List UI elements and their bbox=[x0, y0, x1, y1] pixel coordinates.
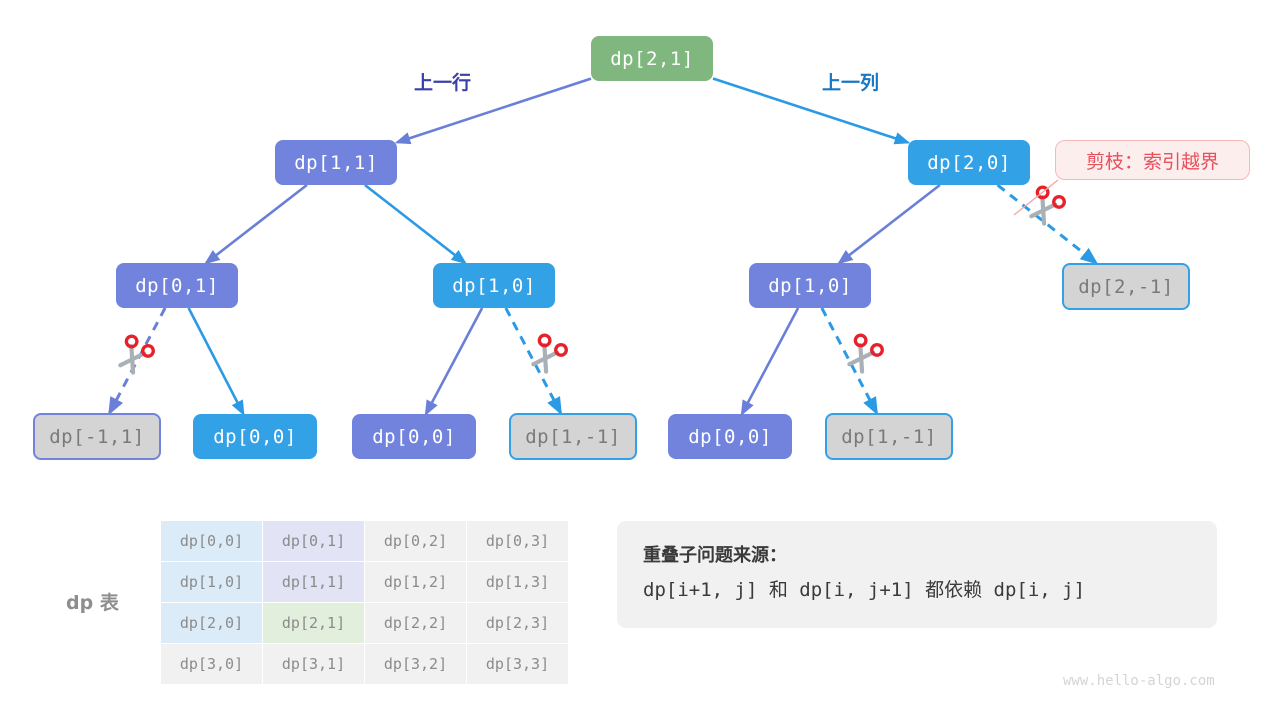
tree-node-n1m1b: dp[1,-1] bbox=[825, 413, 953, 460]
tree-node-label: dp[0,0] bbox=[213, 426, 297, 448]
pruning-callout: 剪枝：索引越界 bbox=[1055, 140, 1250, 180]
note-heading: 重叠子问题来源： bbox=[643, 541, 1191, 567]
tree-node-label: dp[-1,1] bbox=[49, 426, 145, 448]
tree-node-n1m1a: dp[1,-1] bbox=[509, 413, 637, 460]
dp-cell-2-3: dp[2,3] bbox=[467, 603, 569, 644]
dp-cell-1-0: dp[1,0] bbox=[161, 562, 263, 603]
tree-node-nm11: dp[-1,1] bbox=[33, 413, 161, 460]
tree-node-n00a: dp[0,0] bbox=[193, 414, 317, 459]
dp-cell-3-0: dp[3,0] bbox=[161, 644, 263, 685]
tree-node-n10a: dp[1,0] bbox=[433, 263, 555, 308]
edge-n20-to-n2m1 bbox=[998, 185, 1097, 263]
edge-n20-to-n10b bbox=[839, 185, 940, 263]
tree-node-n20: dp[2,0] bbox=[908, 140, 1030, 185]
dp-cell-3-1: dp[3,1] bbox=[263, 644, 365, 685]
pruning-callout-text: 剪枝：索引越界 bbox=[1086, 147, 1219, 174]
dp-table-row: dp[3,0]dp[3,1]dp[3,2]dp[3,3] bbox=[161, 644, 569, 685]
tree-node-label: dp[2,1] bbox=[610, 48, 694, 70]
dp-cell-3-2: dp[3,2] bbox=[365, 644, 467, 685]
scissors-icon bbox=[527, 333, 568, 375]
tree-node-label: dp[1,0] bbox=[768, 275, 852, 297]
dp-cell-2-0: dp[2,0] bbox=[161, 603, 263, 644]
tree-node-label: dp[2,0] bbox=[927, 152, 1011, 174]
dp-cell-1-2: dp[1,2] bbox=[365, 562, 467, 603]
tree-node-root: dp[2,1] bbox=[591, 36, 713, 81]
dp-cell-0-0: dp[0,0] bbox=[161, 521, 263, 562]
tree-node-n01: dp[0,1] bbox=[116, 263, 238, 308]
edge-n01-to-nm11 bbox=[110, 308, 166, 413]
dp-cell-2-1: dp[2,1] bbox=[263, 603, 365, 644]
edge-n01-to-n00a bbox=[189, 308, 244, 414]
tree-node-n00b: dp[0,0] bbox=[352, 414, 476, 459]
edge-n11-to-n01 bbox=[206, 185, 307, 263]
scissors-icon bbox=[114, 334, 155, 376]
diagram-canvas: dp[2,1]dp[1,1]dp[2,0]dp[0,1]dp[1,0]dp[1,… bbox=[0, 0, 1280, 720]
tree-node-label: dp[0,1] bbox=[135, 275, 219, 297]
tree-node-label: dp[0,0] bbox=[688, 426, 772, 448]
dp-cell-1-1: dp[1,1] bbox=[263, 562, 365, 603]
dp-cell-0-1: dp[0,1] bbox=[263, 521, 365, 562]
dp-cell-3-3: dp[3,3] bbox=[467, 644, 569, 685]
scissors-icon bbox=[1025, 185, 1066, 227]
site-watermark: www.hello-algo.com bbox=[1063, 673, 1215, 689]
edge-n10b-to-n1m1b bbox=[822, 308, 877, 413]
tree-node-label: dp[1,1] bbox=[294, 152, 378, 174]
edge-n10a-to-n1m1a bbox=[506, 308, 561, 413]
tree-node-n11: dp[1,1] bbox=[275, 140, 397, 185]
tree-node-label: dp[1,-1] bbox=[525, 426, 621, 448]
dp-table-row: dp[0,0]dp[0,1]dp[0,2]dp[0,3] bbox=[161, 521, 569, 562]
scissors-icon bbox=[843, 333, 884, 375]
tree-node-label: dp[0,0] bbox=[372, 426, 456, 448]
tree-node-n00c: dp[0,0] bbox=[668, 414, 792, 459]
dp-table-row: dp[2,0]dp[2,1]dp[2,2]dp[2,3] bbox=[161, 603, 569, 644]
edge-n10b-to-n00c bbox=[742, 308, 798, 414]
overlapping-subproblem-note: 重叠子问题来源： dp[i+1, j] 和 dp[i, j+1] 都依赖 dp[… bbox=[617, 521, 1217, 628]
dp-cell-0-3: dp[0,3] bbox=[467, 521, 569, 562]
dp-table-label: dp 表 bbox=[66, 588, 119, 615]
edge-label-prev-col: 上一列 bbox=[822, 68, 879, 95]
tree-node-label: dp[2,-1] bbox=[1078, 276, 1174, 298]
tree-node-label: dp[1,-1] bbox=[841, 426, 937, 448]
tree-node-n2m1: dp[2,-1] bbox=[1062, 263, 1190, 310]
edge-n11-to-n10a bbox=[365, 185, 465, 263]
note-formula: dp[i+1, j] 和 dp[i, j+1] 都依赖 dp[i, j] bbox=[643, 575, 1191, 602]
dp-cell-2-2: dp[2,2] bbox=[365, 603, 467, 644]
dp-cell-0-2: dp[0,2] bbox=[365, 521, 467, 562]
dp-table: dp[0,0]dp[0,1]dp[0,2]dp[0,3]dp[1,0]dp[1,… bbox=[160, 520, 569, 685]
dp-cell-1-3: dp[1,3] bbox=[467, 562, 569, 603]
edge-label-prev-row: 上一行 bbox=[414, 68, 471, 95]
tree-node-label: dp[1,0] bbox=[452, 275, 536, 297]
tree-node-n10b: dp[1,0] bbox=[749, 263, 871, 308]
edge-n10a-to-n00b bbox=[426, 308, 482, 414]
dp-table-row: dp[1,0]dp[1,1]dp[1,2]dp[1,3] bbox=[161, 562, 569, 603]
